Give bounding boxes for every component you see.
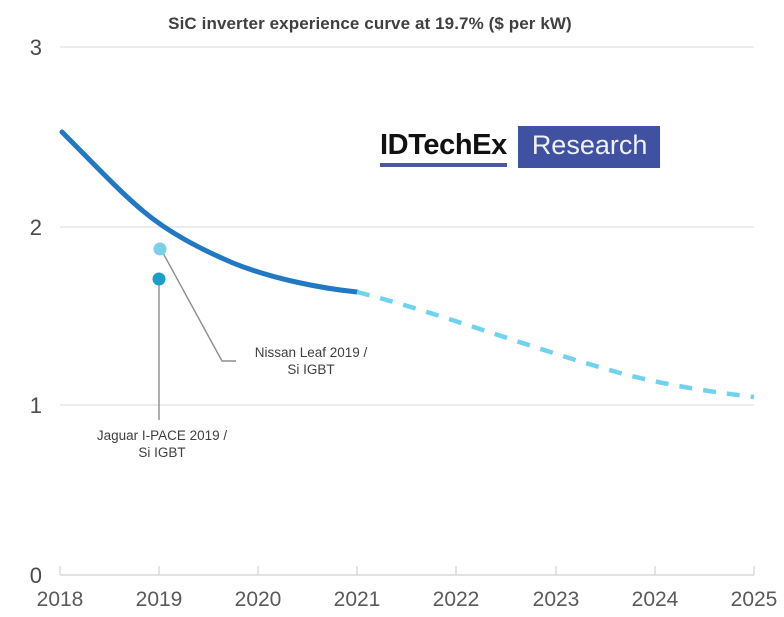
x-tick-2025: 2025 — [731, 588, 778, 611]
chart-figure: SiC inverter experience curve at 19.7% (… — [0, 0, 784, 617]
y-tick-0: 0 — [30, 563, 42, 588]
logo-wordmark-text: IDTechEx — [380, 131, 507, 163]
x-axis-ticks — [60, 566, 754, 575]
x-tick-2020: 2020 — [235, 588, 282, 611]
y-tick-1: 1 — [30, 393, 42, 418]
logo-research-badge-text: Research — [532, 132, 648, 162]
x-tick-2022: 2022 — [433, 588, 480, 611]
x-tick-2024: 2024 — [632, 588, 679, 611]
annotation-nissan-leaf: Nissan Leaf 2019 / Si IGBT — [236, 344, 386, 378]
x-tick-2021: 2021 — [334, 588, 381, 611]
logo-underline — [380, 163, 507, 167]
logo-wordmark: IDTechEx — [380, 126, 518, 168]
plot-area: 3 2 1 0 2018 2019 2020 2021 2022 2023 20… — [0, 0, 784, 617]
series-line-historic — [62, 132, 357, 292]
x-tick-2019: 2019 — [136, 588, 183, 611]
annotation-jaguar-ipace: Jaguar I-PACE 2019 / Si IGBT — [82, 427, 242, 461]
idtechex-research-logo: IDTechEx Research — [380, 126, 660, 168]
logo-research-badge: Research — [518, 126, 661, 168]
x-tick-2023: 2023 — [533, 588, 580, 611]
data-point-jaguar-ipace[interactable] — [153, 273, 166, 286]
y-tick-2: 2 — [30, 215, 42, 240]
series-line-forecast — [357, 292, 754, 397]
y-tick-3: 3 — [30, 35, 42, 60]
y-axis-labels: 3 2 1 0 — [30, 35, 42, 588]
x-tick-2018: 2018 — [37, 588, 84, 611]
x-axis-labels: 2018 2019 2020 2021 2022 2023 2024 2025 — [37, 588, 778, 611]
leader-line-nissan — [163, 253, 236, 361]
data-point-nissan-leaf[interactable] — [154, 243, 167, 256]
